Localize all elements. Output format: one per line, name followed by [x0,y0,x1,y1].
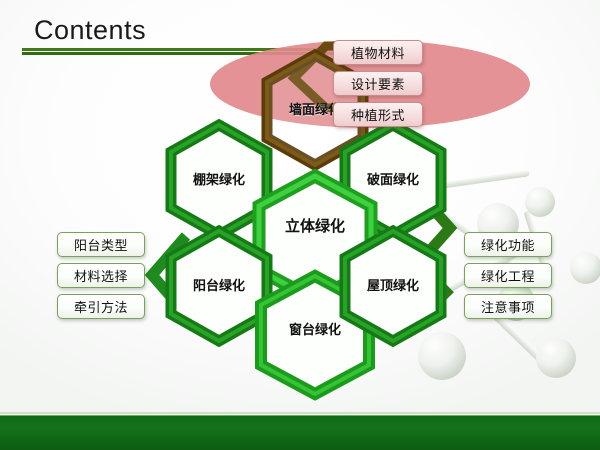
chip-plant-material[interactable]: 植物材料 [333,40,423,65]
chip-planting-form[interactable]: 种植形式 [333,102,423,127]
chip-greening-function[interactable]: 绿化功能 [464,232,552,257]
chip-traction-method[interactable]: 牵引方法 [57,294,145,319]
chip-greening-engineering-label: 绿化工程 [481,266,535,285]
chip-design-elements[interactable]: 设计要素 [333,71,423,96]
slide-canvas: Contents 墙面绿化 棚架绿化 [0,0,600,450]
chip-traction-method-label: 牵引方法 [74,297,128,316]
chip-balcony-type-label: 阳台类型 [74,235,128,254]
chip-material-selection-label: 材料选择 [74,266,128,285]
chip-precautions-label: 注意事项 [481,297,535,316]
bottom-green-band [0,415,600,450]
chip-balcony-type[interactable]: 阳台类型 [57,232,145,257]
hexagon-roof-greening[interactable]: 屋顶绿化 [340,228,446,344]
chip-planting-form-label: 种植形式 [351,105,405,124]
chip-greening-function-label: 绿化功能 [481,235,535,254]
hexagon-roof-greening-label: 屋顶绿化 [340,278,446,294]
chip-material-selection[interactable]: 材料选择 [57,263,145,288]
chip-plant-material-label: 植物材料 [351,43,405,62]
chip-precautions[interactable]: 注意事项 [464,294,552,319]
bottom-band-hairline [0,412,600,414]
chip-design-elements-label: 设计要素 [351,74,405,93]
chip-greening-engineering[interactable]: 绿化工程 [464,263,552,288]
page-title: Contents [22,14,362,46]
